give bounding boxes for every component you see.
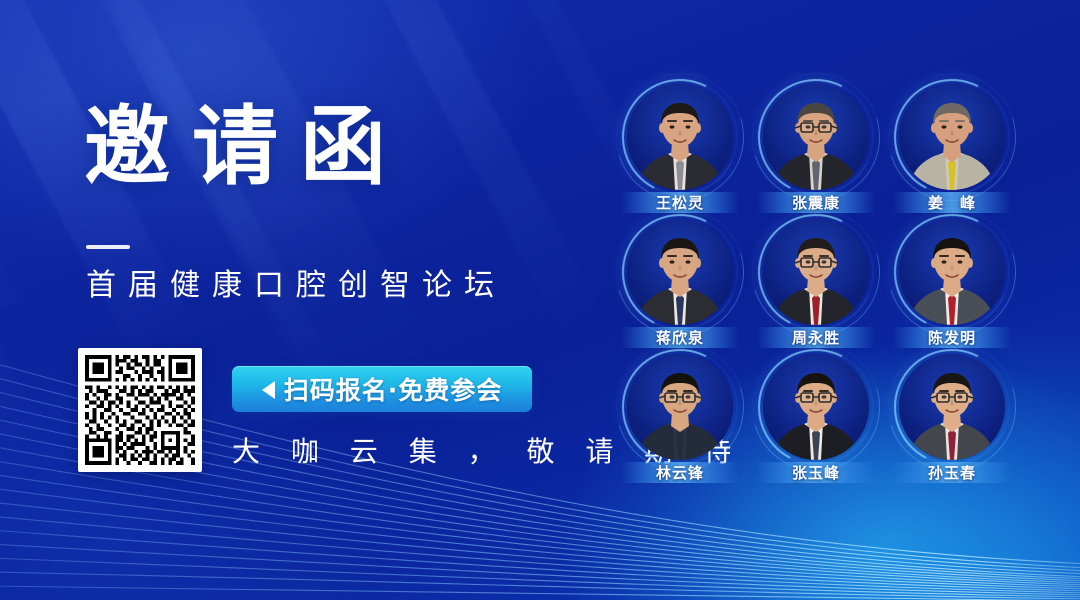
portrait-illustration (899, 354, 1005, 460)
portrait-illustration (899, 84, 1005, 190)
speaker-card[interactable]: 王松灵 (612, 82, 748, 217)
speaker-nameplate: 林云锋 (621, 462, 739, 483)
speaker-ring (763, 219, 869, 325)
speaker-ring (627, 354, 733, 460)
speaker-photo (627, 84, 733, 190)
speaker-ring (899, 84, 1005, 190)
speaker-photo (763, 219, 869, 325)
speaker-photo (899, 84, 1005, 190)
portrait-illustration (627, 219, 733, 325)
title-divider (86, 245, 130, 249)
speaker-card[interactable]: 蒋欣泉 (612, 217, 748, 352)
portrait-illustration (763, 84, 869, 190)
speaker-photo (627, 354, 733, 460)
speaker-card[interactable]: 孙玉春 (884, 352, 1020, 487)
speaker-photo (627, 219, 733, 325)
speaker-ring (627, 219, 733, 325)
speaker-name: 孙玉春 (928, 462, 976, 483)
speaker-ring (763, 354, 869, 460)
speaker-photo (899, 219, 1005, 325)
portrait-illustration (763, 354, 869, 460)
left-triangle-icon (262, 381, 275, 399)
qr-code[interactable] (78, 348, 202, 472)
left-content: 邀请函 首届健康口腔创智论坛 (0, 0, 600, 600)
speaker-name: 林云锋 (656, 462, 704, 483)
speaker-card[interactable]: 张玉峰 (748, 352, 884, 487)
speaker-card[interactable]: 陈发明 (884, 217, 1020, 352)
speaker-ring (627, 84, 733, 190)
portrait-illustration (899, 219, 1005, 325)
speaker-card[interactable]: 周永胜 (748, 217, 884, 352)
speaker-photo (763, 354, 869, 460)
scan-register-button[interactable]: 扫码报名·免费参会 (232, 366, 532, 412)
speaker-nameplate: 孙玉春 (893, 462, 1011, 483)
page-title: 邀请函 (84, 104, 408, 190)
invitation-poster: 邀请函 首届健康口腔创智论坛 (0, 0, 1080, 600)
speaker-photo (763, 84, 869, 190)
speaker-ring (899, 219, 1005, 325)
qr-code-image (85, 355, 195, 465)
scan-register-label: 扫码报名·免费参会 (284, 371, 503, 407)
speaker-name: 张玉峰 (792, 462, 840, 483)
speaker-card[interactable]: 姜 峰 (884, 82, 1020, 217)
speaker-grid: 王松灵 (612, 82, 1020, 487)
speaker-ring (899, 354, 1005, 460)
speaker-card[interactable]: 林云锋 (612, 352, 748, 487)
speaker-photo (899, 354, 1005, 460)
speaker-ring (763, 84, 869, 190)
speaker-card[interactable]: 张震康 (748, 82, 884, 217)
portrait-illustration (763, 219, 869, 325)
portrait-illustration (627, 84, 733, 190)
event-subtitle: 首届健康口腔创智论坛 (86, 268, 506, 304)
speaker-nameplate: 张玉峰 (757, 462, 875, 483)
portrait-illustration (627, 354, 733, 460)
